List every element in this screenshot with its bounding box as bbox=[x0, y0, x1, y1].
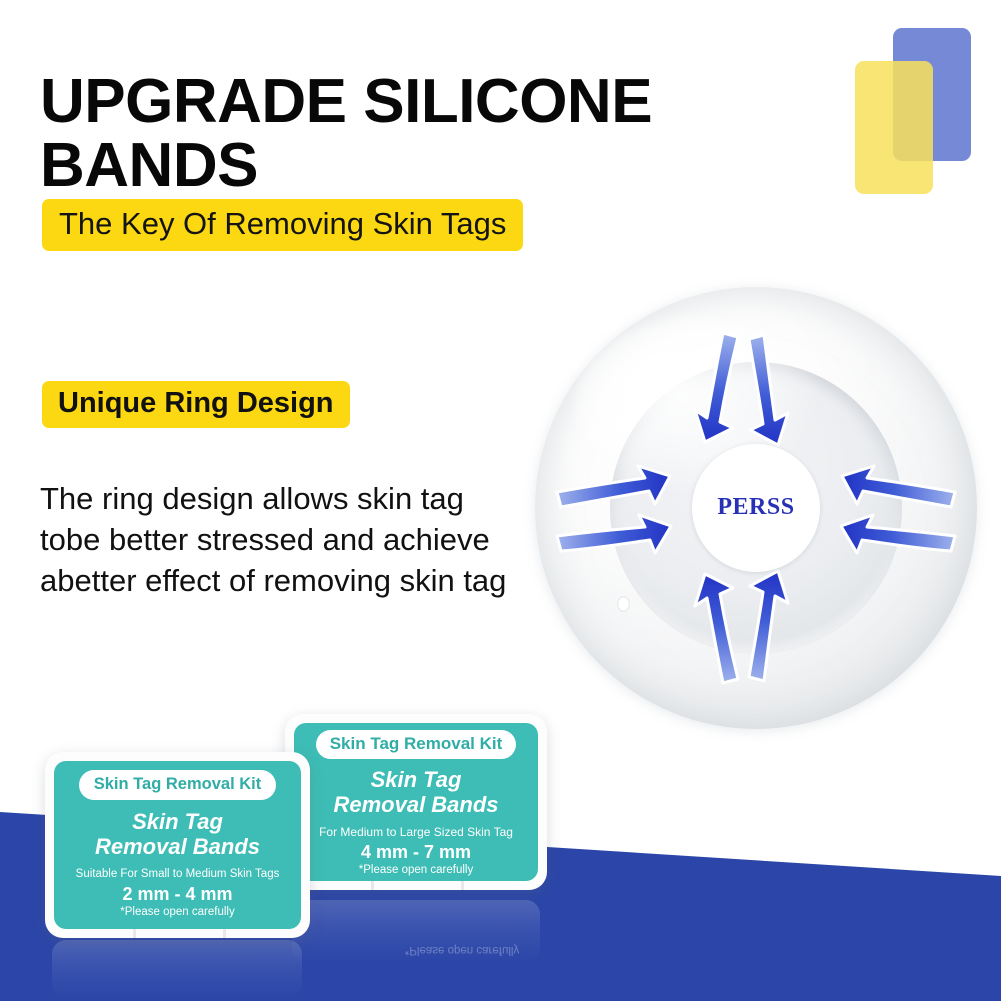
arrow-top-left-icon bbox=[695, 333, 738, 442]
box-seam bbox=[133, 929, 136, 938]
box-seam bbox=[371, 881, 374, 890]
brand-mark-yellow-rect-icon bbox=[855, 61, 933, 194]
kit-pill-large: Skin Tag Removal Kit bbox=[316, 730, 517, 759]
box-title-small-line1: Skin Tag bbox=[95, 810, 260, 835]
product-box-small-label: Skin Tag Removal Kit Skin Tag Removal Ba… bbox=[54, 761, 301, 929]
box-title-large-line2: Removal Bands bbox=[333, 793, 498, 818]
box-title-large: Skin Tag Removal Bands bbox=[333, 768, 498, 817]
subtitle-banner: The Key Of Removing Skin Tags bbox=[42, 199, 523, 251]
box-size-large: 4 mm - 7 mm bbox=[361, 842, 471, 863]
arrow-bottom-right-icon bbox=[749, 571, 788, 681]
product-marketing-image: UPGRADE SILICONE BANDS The Key Of Removi… bbox=[0, 0, 1001, 1001]
product-box-large-label: Skin Tag Removal Kit Skin Tag Removal Ba… bbox=[294, 723, 538, 881]
silicone-band-product-image: PERSS bbox=[535, 287, 977, 729]
box-size-small: 2 mm - 4 mm bbox=[122, 884, 232, 905]
arrow-top-right-icon bbox=[749, 335, 788, 445]
product-box-large: Skin Tag Removal Kit Skin Tag Removal Ba… bbox=[285, 714, 547, 890]
arrow-left-upper-icon bbox=[557, 466, 670, 507]
box-reflection-text: *Please open carefully bbox=[342, 944, 582, 956]
box-title-small-line2: Removal Bands bbox=[95, 835, 260, 860]
arrow-right-lower-icon bbox=[841, 515, 955, 553]
disc-center-circle: PERSS bbox=[692, 444, 820, 572]
box-suitable-small: Suitable For Small to Medium Skin Tags bbox=[76, 868, 280, 882]
box-title-large-line1: Skin Tag bbox=[333, 768, 498, 793]
box-seam bbox=[461, 881, 464, 890]
arrow-bottom-left-icon bbox=[695, 574, 738, 683]
box-reflection-back bbox=[292, 900, 540, 962]
kit-pill-small: Skin Tag Removal Kit bbox=[79, 770, 276, 800]
box-note-large: *Please open carefully bbox=[359, 864, 473, 876]
box-note-small: *Please open carefully bbox=[120, 906, 234, 918]
box-suitable-large: For Medium to Large Sized Skin Tag bbox=[319, 825, 513, 839]
feature-body-text: The ring design allows skin tag tobe bet… bbox=[40, 478, 520, 602]
box-reflection-front bbox=[52, 940, 302, 998]
box-title-small: Skin Tag Removal Bands bbox=[95, 810, 260, 859]
brand-mark bbox=[855, 28, 990, 193]
product-box-small: Skin Tag Removal Kit Skin Tag Removal Ba… bbox=[45, 752, 310, 938]
feature-heading-badge: Unique Ring Design bbox=[42, 381, 350, 428]
page-title: UPGRADE SILICONE BANDS bbox=[40, 70, 780, 199]
arrow-left-lower-icon bbox=[557, 515, 671, 553]
box-seam bbox=[223, 929, 226, 938]
arrow-right-upper-icon bbox=[842, 466, 955, 507]
product-logo-text: PERSS bbox=[717, 494, 794, 521]
